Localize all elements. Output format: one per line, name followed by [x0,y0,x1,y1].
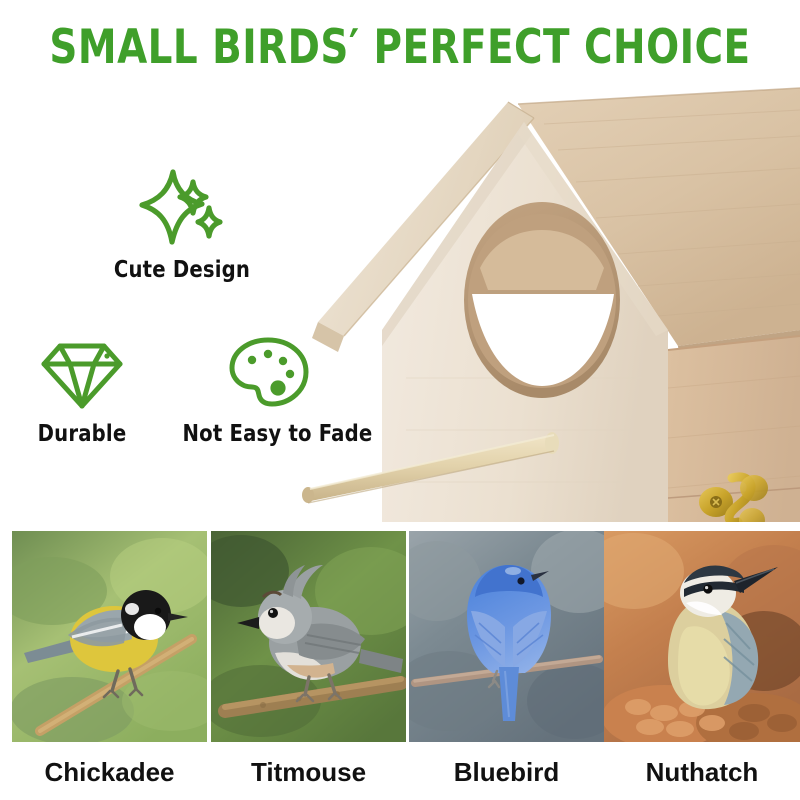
bird-photo-nuthatch [604,531,800,742]
bird-card[interactable]: Chickadee [12,531,207,787]
bird-species-gallery: Chickadee [0,531,800,800]
sparkle-icon [92,164,272,250]
feature-label: Cute Design [97,257,268,283]
bird-photo-bluebird [409,531,604,742]
bird-label: Nuthatch [604,757,800,787]
diamond-icon [0,332,172,414]
bird-card[interactable]: Nuthatch [604,531,800,787]
bird-label: Chickadee [12,757,207,787]
bird-photo-chickadee [12,531,207,742]
feature-durable: Durable [0,332,172,447]
feature-label: Durable [0,421,168,447]
bird-label: Bluebird [409,757,604,787]
product-marketing-image: SMALL BIRDS′ PERFECT CHOICE Cute Design [0,0,800,800]
bird-card[interactable]: Titmouse [211,531,406,787]
entrance-hole [464,202,620,398]
product-photo-birdhouse [286,78,800,522]
bird-label: Titmouse [211,757,406,787]
side-wall [668,336,800,522]
page-title: SMALL BIRDS′ PERFECT CHOICE [32,22,768,74]
bird-photo-titmouse [211,531,406,742]
bird-card[interactable]: Bluebird [409,531,604,787]
feature-cute-design: Cute Design [92,164,272,283]
